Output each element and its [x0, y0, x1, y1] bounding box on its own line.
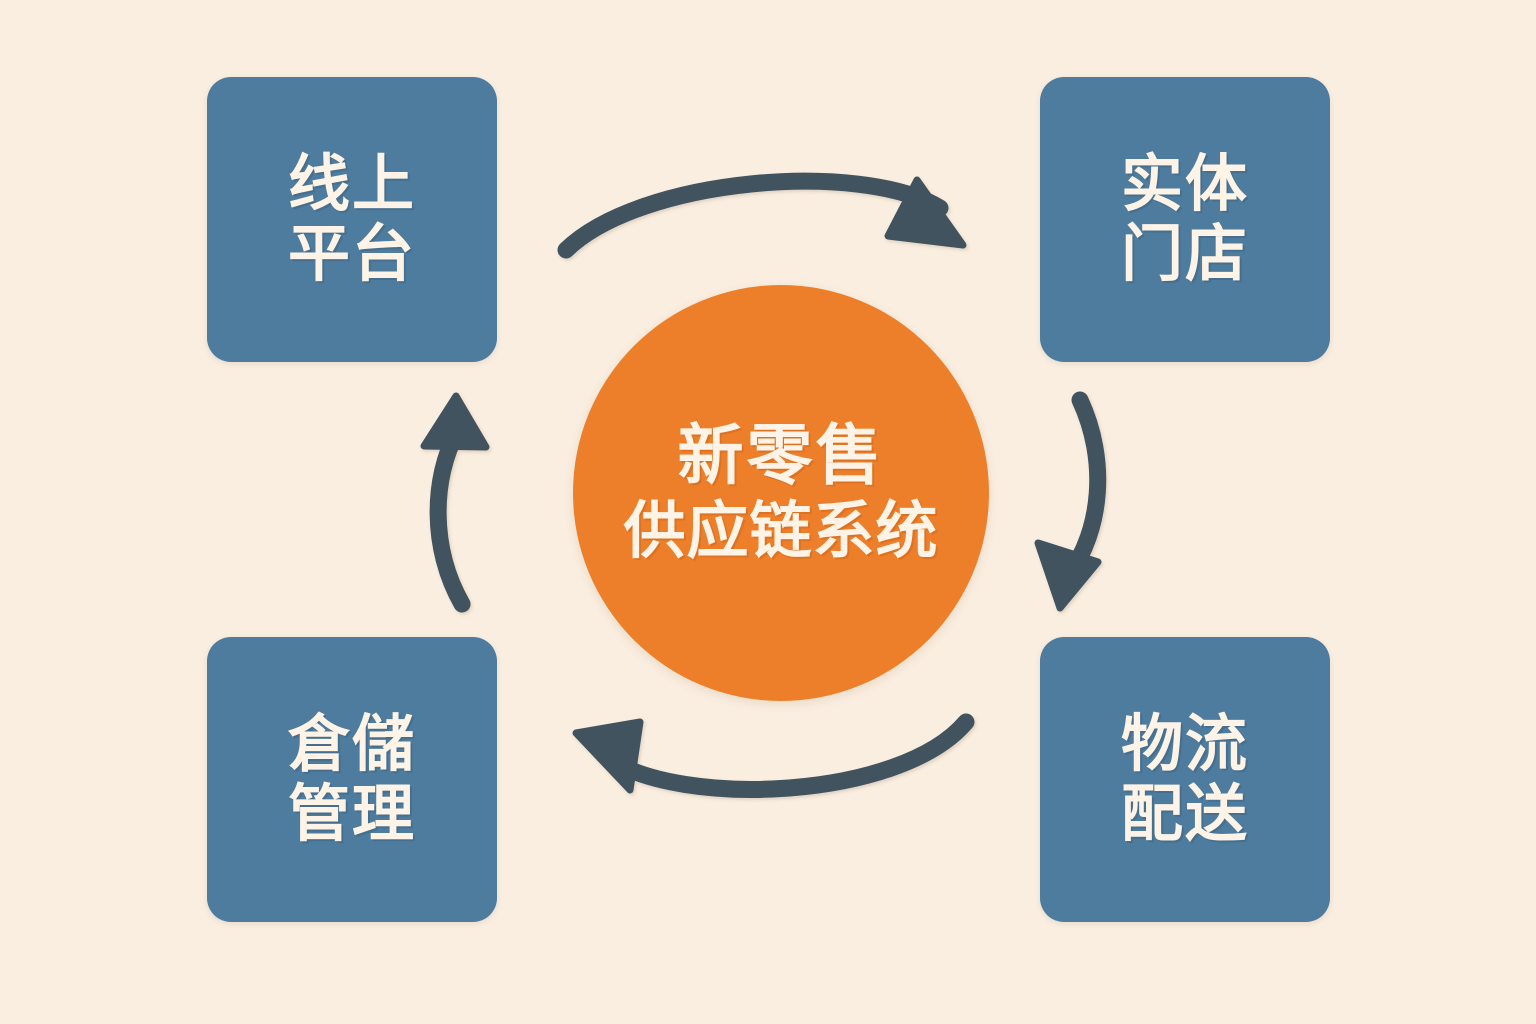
arrow-top [566, 180, 963, 250]
node-online-platform-line2: 平台 [288, 220, 416, 289]
node-online-platform[interactable]: 线上 平台 [207, 77, 497, 362]
node-warehouse-management-line2: 管理 [288, 780, 416, 849]
node-physical-store[interactable]: 实体 门店 [1040, 77, 1330, 362]
node-warehouse-management[interactable]: 倉儲 管理 [207, 637, 497, 922]
arrow-left [424, 396, 486, 604]
center-hub-line2: 供应链系统 [623, 495, 938, 568]
node-logistics-delivery-line2: 配送 [1121, 780, 1249, 849]
node-warehouse-management-line1: 倉儲 [288, 710, 416, 779]
node-physical-store-line2: 门店 [1121, 220, 1249, 289]
arrow-right [1038, 400, 1098, 608]
arrow-bottom [576, 722, 966, 790]
node-logistics-delivery[interactable]: 物流 配送 [1040, 637, 1330, 922]
diagram-canvas: 线上 平台 实体 门店 倉儲 管理 物流 配送 新零售 供应链系统 [0, 0, 1536, 1024]
node-online-platform-line1: 线上 [288, 150, 416, 219]
node-physical-store-line1: 实体 [1121, 150, 1249, 219]
center-hub-line1: 新零售 [678, 417, 885, 495]
center-hub[interactable]: 新零售 供应链系统 [573, 285, 989, 701]
node-logistics-delivery-line1: 物流 [1121, 710, 1249, 779]
